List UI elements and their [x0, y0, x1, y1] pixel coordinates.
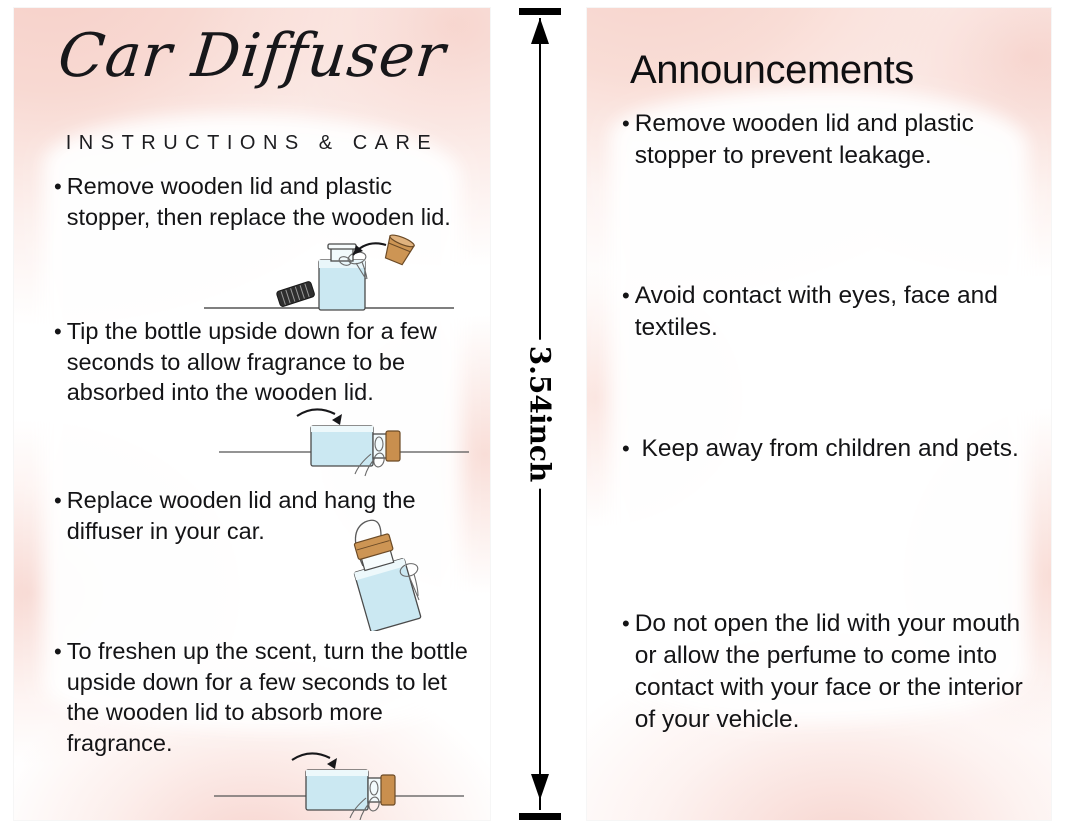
- dimension-cap-top: [519, 8, 561, 15]
- list-item: • Tip the bottle upside down for a few s…: [54, 316, 474, 408]
- bullet-icon: •: [54, 490, 62, 512]
- bullet-icon: •: [622, 613, 630, 635]
- bullet-icon: •: [622, 113, 630, 135]
- page-title: Car Diffuser: [14, 26, 490, 86]
- list-item: • Avoid contact with eyes, face and text…: [622, 280, 1032, 344]
- bullet-icon: •: [54, 321, 62, 343]
- bullet-icon: •: [622, 285, 630, 307]
- list-item: • Do not open the lid with your mouth or…: [622, 608, 1032, 735]
- arrow-up-icon: [531, 18, 549, 44]
- bullet-icon: •: [622, 438, 630, 460]
- list-item-text: Remove wooden lid and plastic stopper, t…: [67, 171, 474, 232]
- list-item: • To freshen up the scent, turn the bott…: [54, 636, 474, 758]
- announcements-title: Announcements: [630, 48, 914, 93]
- list-item: • Remove wooden lid and plastic stopper …: [622, 108, 1032, 172]
- dimension-cap-bottom: [519, 813, 561, 820]
- page-subtitle: INSTRUCTIONS & CARE: [14, 132, 490, 155]
- bottle-tipped-illustration-1: [219, 402, 469, 487]
- list-item-text: Do not open the lid with your mouth or a…: [635, 608, 1032, 735]
- list-item-text: Avoid contact with eyes, face and textil…: [635, 280, 1032, 344]
- list-item-text: Tip the bottle upside down for a few sec…: [67, 316, 474, 408]
- bottle-upright-illustration: [204, 230, 454, 325]
- bottle-tipped-illustration-2: [214, 746, 464, 820]
- list-item-text: To freshen up the scent, turn the bottle…: [67, 636, 474, 758]
- instruction-card-left: Car Diffuser INSTRUCTIONS & CARE • Remov…: [14, 8, 490, 820]
- list-item-text: Remove wooden lid and plastic stopper to…: [635, 108, 1032, 172]
- dimension-label: 3.54inch: [522, 340, 559, 489]
- list-item-text: Keep away from children and pets.: [635, 433, 1019, 465]
- arrow-down-icon: [531, 774, 549, 800]
- announcements-card-right: Announcements • Remove wooden lid and pl…: [587, 8, 1051, 820]
- dimension-indicator: 3.54inch: [505, 0, 575, 828]
- list-item: • Keep away from children and pets.: [622, 433, 1032, 465]
- list-item: • Remove wooden lid and plastic stopper,…: [54, 171, 474, 232]
- bullet-icon: •: [54, 176, 62, 198]
- bottle-hanging-illustration: [329, 516, 449, 636]
- bullet-icon: •: [54, 641, 62, 663]
- instruction-card-pair: Car Diffuser INSTRUCTIONS & CARE • Remov…: [0, 0, 1065, 828]
